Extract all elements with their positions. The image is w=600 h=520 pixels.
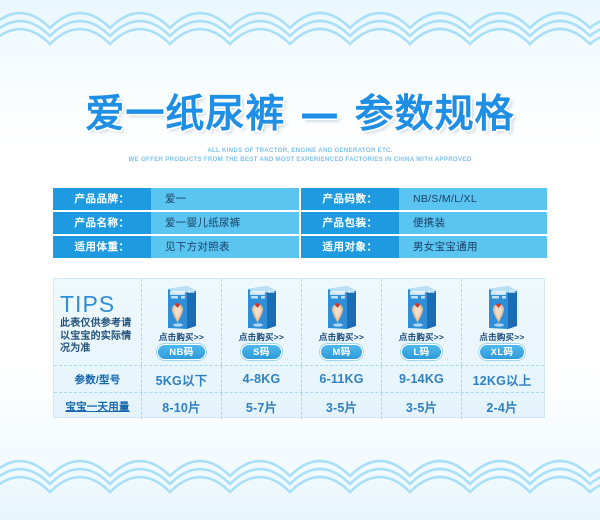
table-row: 适用体重： 见下方对照表 适用对象： 男女宝宝通用 (53, 236, 547, 258)
size-badge-l[interactable]: L码 (401, 344, 441, 360)
spec-label-sizes: 产品码数： (301, 188, 399, 210)
wave-border-bottom (0, 454, 600, 512)
package-image-m (325, 281, 358, 331)
product-cell-l[interactable]: 点击购买>> L码 (382, 279, 462, 365)
buy-link-xl[interactable]: 点击购买>> (479, 332, 524, 342)
weight-value-l: 9-14KG (382, 366, 462, 392)
daily-usage-row: 宝宝一天用量 8-10片 5-7片 3-5片 3-5片 2-4片 (54, 392, 544, 419)
product-cell-m[interactable]: 点击购买>> M码 (302, 279, 382, 365)
tips-title: TIPS (60, 292, 115, 317)
usage-value-l: 3-5片 (382, 393, 462, 419)
usage-value-m: 3-5片 (302, 393, 382, 419)
spec-value-product-name: 爱一婴儿纸尿裤 (151, 212, 299, 234)
diaper-package-icon (405, 284, 438, 331)
specification-table: 产品品牌： 爱一 产品码数： NB/S/M/L/XL 产品名称： 爱一婴儿纸尿裤… (53, 186, 547, 260)
subtitle-line-2: WE OFFER PRODUCTS FROM THE BEST AND MOST… (0, 155, 600, 164)
weight-row: 参数/型号 5KG以下 4-8KG 6-11KG 9-14KG 12KG以上 (54, 365, 544, 392)
package-image-xl (486, 281, 519, 331)
package-image-nb (165, 281, 198, 331)
diaper-package-icon (486, 284, 519, 331)
diaper-package-icon (325, 284, 358, 331)
spec-value-audience: 男女宝宝通用 (399, 236, 547, 258)
spec-label-packaging: 产品包装： (301, 212, 399, 234)
weight-value-s: 4-8KG (222, 366, 302, 392)
table-row: 产品品牌： 爱一 产品码数： NB/S/M/L/XL (53, 188, 547, 210)
size-comparison-panel: TIPS 此表仅供参考请以宝宝的实际情况为准 (53, 278, 545, 418)
size-badge-s[interactable]: S码 (241, 344, 282, 360)
spec-label-weight: 适用体重： (53, 236, 151, 258)
package-image-s (245, 281, 278, 331)
weight-value-nb: 5KG以下 (142, 366, 222, 392)
spec-label-audience: 适用对象： (301, 236, 399, 258)
table-row: 产品名称： 爱一婴儿纸尿裤 产品包装： 便携装 (53, 212, 547, 234)
package-image-l (405, 281, 438, 331)
product-cell-s[interactable]: 点击购买>> S码 (222, 279, 302, 365)
weight-value-xl: 12KG以上 (462, 366, 542, 392)
usage-row-header: 宝宝一天用量 (54, 393, 142, 419)
spec-value-weight: 见下方对照表 (151, 236, 299, 258)
products-row: TIPS 此表仅供参考请以宝宝的实际情况为准 (54, 279, 544, 365)
size-badge-xl[interactable]: XL码 (479, 344, 526, 360)
weight-value-m: 6-11KG (302, 366, 382, 392)
buy-link-nb[interactable]: 点击购买>> (159, 332, 204, 342)
buy-link-s[interactable]: 点击购买>> (239, 332, 284, 342)
spec-value-packaging: 便携装 (399, 212, 547, 234)
wave-border-top (0, 6, 600, 64)
tips-cell: TIPS 此表仅供参考请以宝宝的实际情况为准 (54, 279, 142, 365)
weight-row-header: 参数/型号 (54, 366, 142, 392)
page-title: 爱一纸尿裤 — 参数规格 (0, 92, 600, 138)
product-cell-xl[interactable]: 点击购买>> XL码 (462, 279, 542, 365)
diaper-package-icon (245, 284, 278, 331)
size-badge-m[interactable]: M码 (320, 344, 362, 360)
title-block: 爱一纸尿裤 — 参数规格 ALL KINDS OF TRACTOR, ENGIN… (0, 92, 600, 164)
spec-value-sizes: NB/S/M/L/XL (399, 188, 547, 210)
usage-value-s: 5-7片 (222, 393, 302, 419)
product-cell-nb[interactable]: 点击购买>> NB码 (142, 279, 222, 365)
buy-link-l[interactable]: 点击购买>> (399, 332, 444, 342)
diaper-package-icon (165, 284, 198, 331)
spec-value-brand: 爱一 (151, 188, 299, 210)
subtitle-block: ALL KINDS OF TRACTOR, ENGINE AND GENERAT… (0, 146, 600, 164)
spec-label-brand: 产品品牌： (53, 188, 151, 210)
spec-label-product-name: 产品名称： (53, 212, 151, 234)
usage-value-nb: 8-10片 (142, 393, 222, 419)
usage-value-xl: 2-4片 (462, 393, 542, 419)
page-root: 爱一纸尿裤 — 参数规格 ALL KINDS OF TRACTOR, ENGIN… (0, 0, 600, 520)
tips-body: 此表仅供参考请以宝宝的实际情况为准 (60, 318, 140, 356)
subtitle-line-1: ALL KINDS OF TRACTOR, ENGINE AND GENERAT… (0, 146, 600, 155)
size-badge-nb[interactable]: NB码 (157, 344, 205, 360)
buy-link-m[interactable]: 点击购买>> (319, 332, 364, 342)
